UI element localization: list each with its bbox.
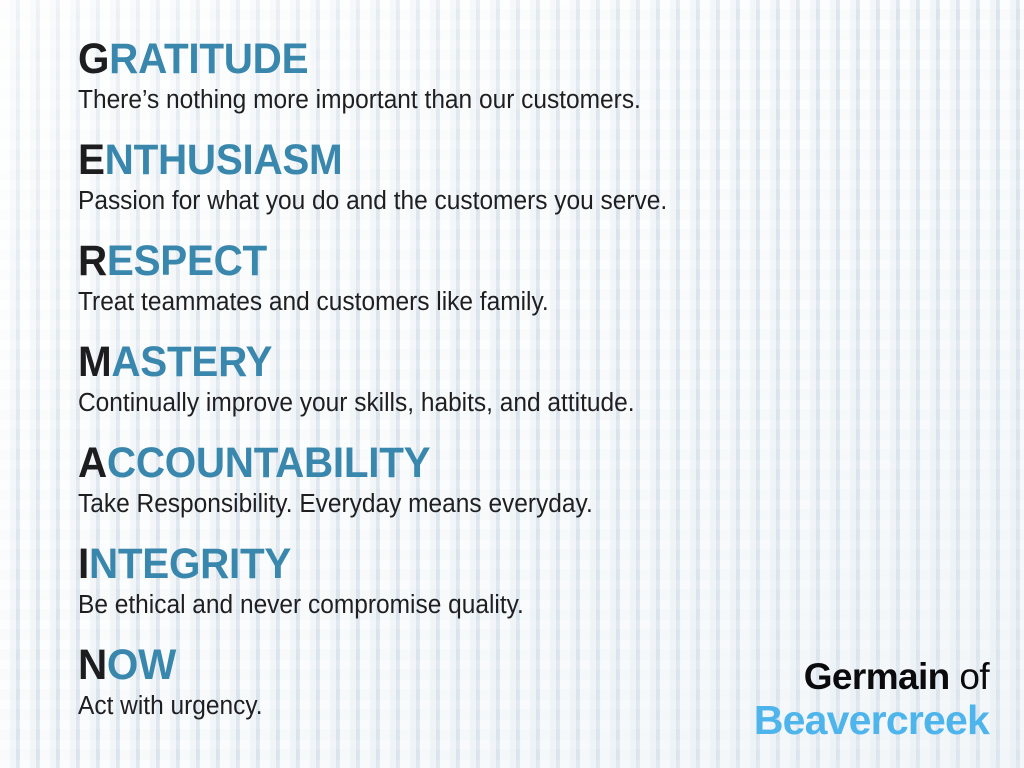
value-heading-accountability: ACCOUNTABILITY <box>78 440 924 486</box>
value-block-accountability: ACCOUNTABILITY Take Responsibility. Ever… <box>78 440 978 522</box>
value-description-respect: Treat teammates and customers like famil… <box>78 284 942 320</box>
value-heading-remainder: ESPECT <box>107 237 267 285</box>
value-block-integrity: INTEGRITY Be ethical and never compromis… <box>78 541 978 623</box>
value-initial-letter: A <box>78 439 107 487</box>
value-block-respect: RESPECT Treat teammates and customers li… <box>78 238 978 320</box>
brand-logo-dealer-name: Germain <box>804 656 950 697</box>
brand-logo: Germain of Beavercreek <box>754 657 989 742</box>
core-values-poster: GRATITUDE There’s nothing more important… <box>0 0 1024 768</box>
value-heading-gratitude: GRATITUDE <box>78 36 924 82</box>
value-description-mastery: Continually improve your skills, habits,… <box>78 385 942 421</box>
value-initial-letter: G <box>78 35 109 83</box>
value-heading-integrity: INTEGRITY <box>78 541 924 587</box>
value-description-gratitude: There’s nothing more important than our … <box>78 82 942 118</box>
value-initial-letter: M <box>78 338 111 386</box>
value-block-gratitude: GRATITUDE There’s nothing more important… <box>78 36 978 118</box>
value-block-enthusiasm: ENTHUSIASM Passion for what you do and t… <box>78 137 978 219</box>
value-heading-respect: RESPECT <box>78 238 924 284</box>
value-heading-remainder: CCOUNTABILITY <box>107 439 430 487</box>
value-heading-mastery: MASTERY <box>78 339 924 385</box>
value-heading-remainder: RATITUDE <box>109 35 308 83</box>
value-heading-remainder: NTHUSIASM <box>105 136 343 184</box>
brand-logo-location: Beavercreek <box>754 698 989 742</box>
value-heading-enthusiasm: ENTHUSIASM <box>78 137 924 183</box>
value-heading-remainder: ASTERY <box>111 338 272 386</box>
value-description-enthusiasm: Passion for what you do and the customer… <box>78 183 942 219</box>
brand-logo-connector: of <box>950 656 989 697</box>
value-heading-remainder: NTEGRITY <box>89 540 291 588</box>
value-description-accountability: Take Responsibility. Everyday means ever… <box>78 486 942 522</box>
values-list: GRATITUDE There’s nothing more important… <box>78 36 978 724</box>
value-initial-letter: I <box>78 540 89 588</box>
value-initial-letter: N <box>78 641 107 689</box>
value-heading-remainder: OW <box>107 641 176 689</box>
brand-logo-line-primary: Germain of <box>754 657 989 697</box>
value-block-mastery: MASTERY Continually improve your skills,… <box>78 339 978 421</box>
value-initial-letter: R <box>78 237 107 285</box>
value-initial-letter: E <box>78 136 105 184</box>
value-description-integrity: Be ethical and never compromise quality. <box>78 587 942 623</box>
